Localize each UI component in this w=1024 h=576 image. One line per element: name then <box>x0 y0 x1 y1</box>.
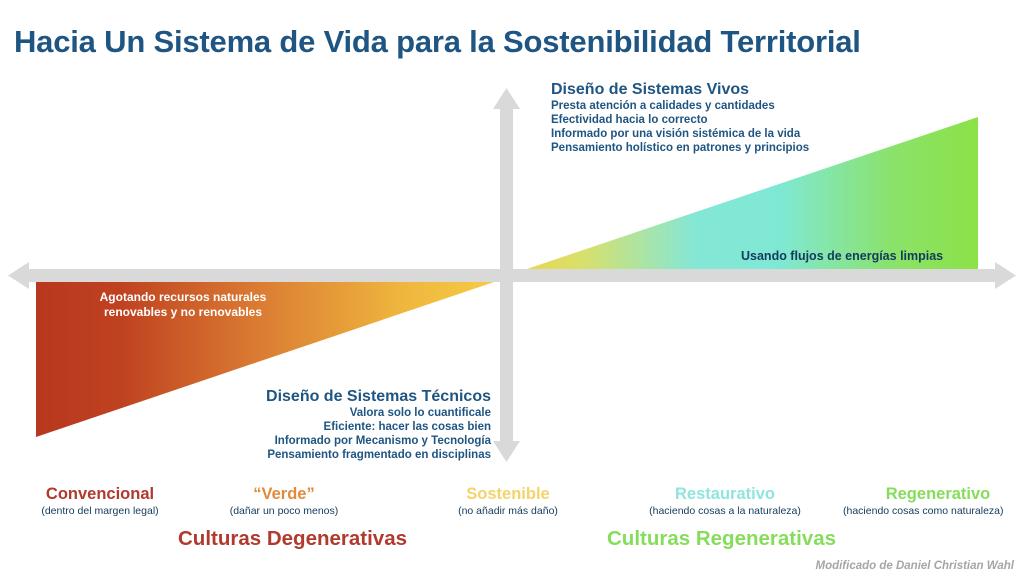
depleting-line-2: renovables y no renovables <box>78 305 288 320</box>
credit-line: Modificado de Daniel Christian Wahl <box>815 560 1014 572</box>
culture-name: Restaurativo <box>617 484 833 504</box>
culture-sub: (no añadir más daño) <box>418 504 598 518</box>
depleting-line-1: Agotando recursos naturales <box>78 290 288 305</box>
culture-sub: (haciendo cosas como naturaleza) <box>843 504 1024 518</box>
technical-systems-line-2: Eficiente: hacer las cosas bien <box>220 420 491 434</box>
label-depleting-resources: Agotando recursos naturales renovables y… <box>78 290 288 320</box>
living-systems-heading: Diseño de Sistemas Vivos <box>551 80 809 99</box>
culture-sub: (dentro del margen legal) <box>10 504 190 518</box>
culture-label-verde: “Verde” (dañar un poco menos) <box>194 484 374 518</box>
living-systems-line-2: Efectividad hacia lo correcto <box>551 113 809 127</box>
culture-label-sostenible: Sostenible (no añadir más daño) <box>418 484 598 518</box>
culture-name: Regenerativo <box>843 484 1024 504</box>
annotation-technical-systems: Diseño de Sistemas Técnicos Valora solo … <box>220 387 491 462</box>
culture-name: “Verde” <box>194 484 374 504</box>
technical-systems-line-4: Pensamiento fragmentado en disciplinas <box>220 448 491 462</box>
technical-systems-heading: Diseño de Sistemas Técnicos <box>220 387 491 406</box>
culture-sub: (dañar un poco menos) <box>194 504 374 518</box>
family-heading-degenerative: Culturas Degenerativas <box>178 527 407 551</box>
living-systems-line-4: Pensamiento holístico en patrones y prin… <box>551 141 809 155</box>
family-heading-regenerative: Culturas Regenerativas <box>607 527 836 551</box>
culture-label-restaurativo: Restaurativo (haciendo cosas a la natura… <box>617 484 833 518</box>
living-systems-line-3: Informado por una visión sistémica de la… <box>551 127 809 141</box>
technical-systems-line-3: Informado por Mecanismo y Tecnología <box>220 434 491 448</box>
living-systems-line-1: Presta atención a calidades y cantidades <box>551 99 809 113</box>
annotation-living-systems: Diseño de Sistemas Vivos Presta atención… <box>551 80 809 155</box>
culture-sub: (haciendo cosas a la naturaleza) <box>617 504 833 518</box>
culture-label-convencional: Convencional (dentro del margen legal) <box>10 484 190 518</box>
infographic-canvas: Hacia Un Sistema de Vida para la Sosteni… <box>0 0 1024 576</box>
label-clean-energy-flows: Usando flujos de energías limpias <box>741 249 943 263</box>
culture-label-regenerativo: Regenerativo (haciendo cosas como natura… <box>843 484 1024 518</box>
culture-name: Convencional <box>10 484 190 504</box>
culture-name: Sostenible <box>418 484 598 504</box>
technical-systems-line-1: Valora solo lo cuantificale <box>220 406 491 420</box>
